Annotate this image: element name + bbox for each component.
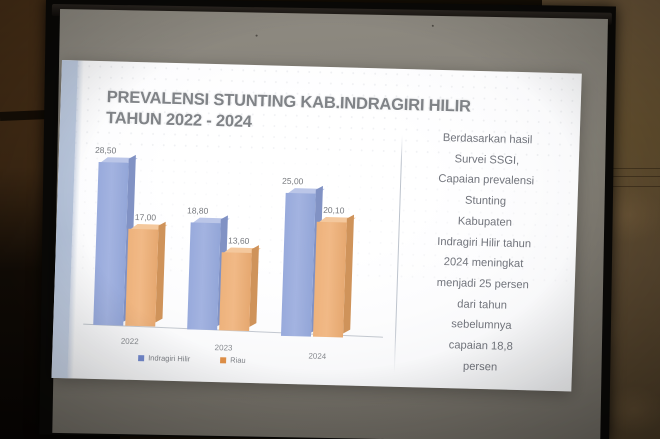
legend-label: Riau [230, 356, 246, 365]
bar-indragiri-hilir-2022: 28,50 [93, 162, 128, 326]
bar-group-2022: 28,50 17,00 [87, 153, 179, 327]
chart-legend: Indragiri Hilir Riau [138, 353, 246, 365]
legend-item-indragiri-hilir: Indragiri Hilir [138, 353, 190, 363]
legend-swatch-orange [220, 357, 226, 363]
bar-group-2023: 18,80 13,60 [181, 157, 273, 331]
bar-riau-2022: 17,00 [125, 229, 158, 327]
bar-value-label: 13,60 [228, 235, 274, 246]
bar-group-2024: 25,00 20,10 [275, 164, 367, 338]
bar-indragiri-hilir-2023: 18,80 [187, 222, 221, 330]
photograph-of-presentation-screen: PREVALENSI STUNTING KAB.INDRAGIRI HILIR … [0, 0, 660, 439]
legend-item-riau: Riau [220, 355, 246, 365]
bar-riau-2023: 13,60 [219, 252, 252, 331]
bar-indragiri-hilir-2024: 25,00 [281, 193, 316, 337]
x-axis-label-2024: 2024 [274, 351, 360, 362]
bar-value-label: 17,00 [135, 212, 181, 223]
body-line: persen [404, 355, 557, 380]
bar-value-label: 20,10 [323, 205, 369, 216]
slide-body-text: Berdasarkan hasil Survei SSGI, Capaian p… [404, 127, 564, 379]
bar-value-label: 28,50 [95, 145, 141, 156]
legend-swatch-blue [138, 355, 144, 361]
legend-label: Indragiri Hilir [148, 353, 190, 363]
x-axis-label-2023: 2023 [180, 342, 266, 353]
x-axis-label-2022: 2022 [87, 336, 173, 347]
bar-chart: 28,50 17,00 2022 18,80 [76, 135, 396, 373]
bar-value-label: 18,80 [187, 205, 233, 216]
projected-slide: PREVALENSI STUNTING KAB.INDRAGIRI HILIR … [51, 60, 581, 391]
bar-value-label: 25,00 [282, 176, 328, 187]
bar-riau-2024: 20,10 [313, 222, 347, 338]
